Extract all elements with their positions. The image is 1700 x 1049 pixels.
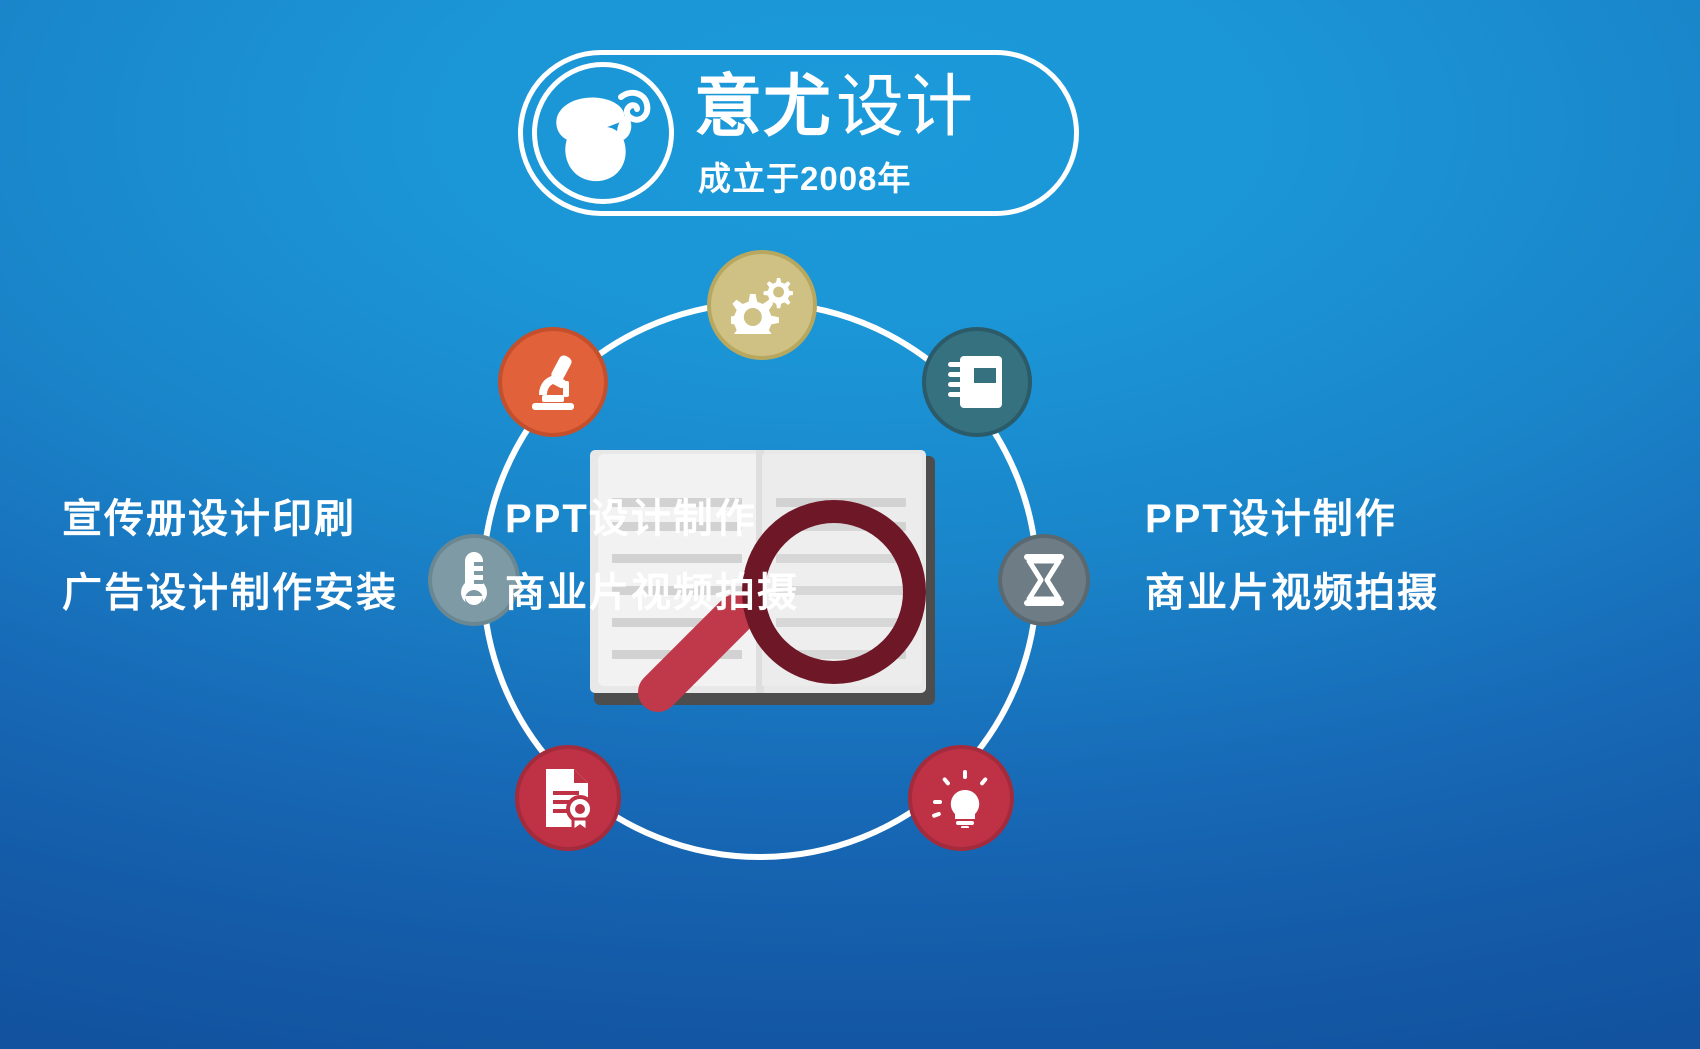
node-notebook[interactable]: [922, 327, 1032, 437]
logo-wordmark: 意尤设计 成立于2008年: [694, 66, 1074, 206]
services-center-line1: PPT设计制作: [505, 482, 799, 556]
gears-icon: [731, 276, 793, 334]
thermometer-icon: [454, 550, 494, 610]
node-lightbulb[interactable]: [908, 745, 1014, 851]
node-gears[interactable]: [707, 250, 817, 360]
company-logo: 意尤设计 成立于2008年: [518, 50, 1083, 220]
certificate-document-icon: [540, 767, 596, 829]
logo-tagline: 成立于2008年: [698, 152, 911, 200]
services-text-right: PPT设计制作 商业片视频拍摄: [1145, 482, 1439, 630]
bird-leaf-logo-icon: [532, 62, 674, 204]
microscope-icon: [522, 351, 584, 413]
notebook-icon: [948, 352, 1006, 412]
node-microscope[interactable]: [498, 327, 608, 437]
services-center-line2: 商业片视频拍摄: [505, 556, 799, 630]
services-text-center: PPT设计制作 商业片视频拍摄: [505, 482, 799, 630]
services-right-line1: PPT设计制作: [1145, 482, 1439, 556]
logo-name-thin: 设计: [836, 69, 974, 145]
logo-name-bold: 意尤: [694, 69, 832, 145]
lightbulb-icon: [931, 768, 991, 828]
services-left-line1: 宣传册设计印刷: [62, 482, 398, 556]
services-text-left: 宣传册设计印刷 广告设计制作安装: [62, 482, 398, 630]
node-certificate[interactable]: [515, 745, 621, 851]
book-text-line: [776, 650, 906, 659]
logo-name: 意尤设计: [694, 68, 974, 146]
slide-canvas: 意尤设计 成立于2008年: [0, 0, 1700, 1049]
node-hourglass[interactable]: [998, 534, 1090, 626]
hourglass-icon: [1020, 552, 1068, 608]
services-right-line2: 商业片视频拍摄: [1145, 556, 1439, 630]
services-left-line2: 广告设计制作安装: [62, 556, 398, 630]
book-text-line: [612, 650, 742, 659]
